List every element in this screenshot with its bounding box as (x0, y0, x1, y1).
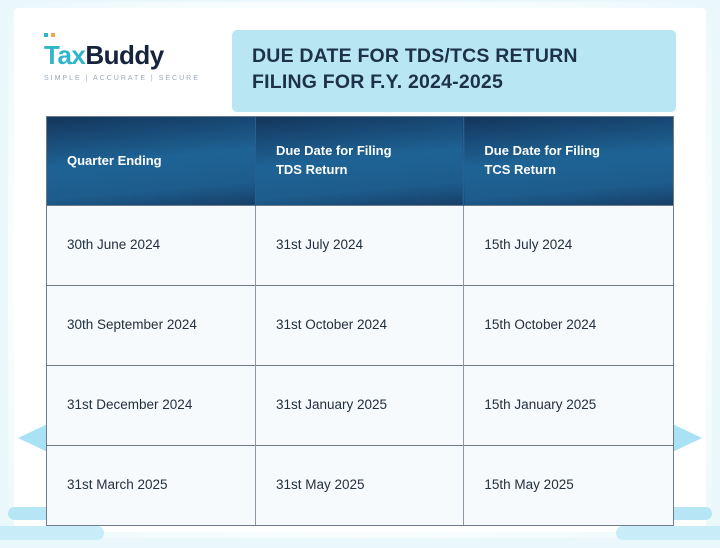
flag-base-bottom (0, 526, 104, 540)
column-header-line1: Quarter Ending (67, 152, 235, 170)
umlaut-dots-icon (44, 33, 55, 37)
cell-tds-due-date: 31st October 2024 (255, 285, 463, 365)
cell-tcs-due-date: 15th October 2024 (464, 285, 673, 365)
cell-quarter-ending: 30th September 2024 (47, 285, 255, 365)
brand-name-tax: Tax (44, 40, 85, 70)
cell-tds-due-date: 31st July 2024 (255, 205, 463, 285)
column-header-line1: Due Date for Filing (276, 142, 443, 160)
cell-tcs-due-date: 15th May 2025 (464, 445, 673, 525)
brand-tagline: SIMPLE | ACCURATE | SECURE (44, 75, 212, 82)
table-row: 30th June 2024 31st July 2024 15th July … (47, 205, 673, 285)
brand-name-buddy: Buddy (85, 40, 163, 70)
table-row: 31st December 2024 31st January 2025 15t… (47, 365, 673, 445)
column-header-line2: TDS Return (276, 161, 443, 179)
cell-quarter-ending: 31st March 2025 (47, 445, 255, 525)
table-row: 31st March 2025 31st May 2025 15th May 2… (47, 445, 673, 525)
title-banner: DUE DATE FOR TDS/TCS RETURN FILING FOR F… (232, 30, 676, 112)
cell-tcs-due-date: 15th January 2025 (464, 365, 673, 445)
column-header-line1: Due Date for Filing (484, 142, 653, 160)
cell-tds-due-date: 31st May 2025 (255, 445, 463, 525)
poster-canvas: TaxBuddy SIMPLE | ACCURATE | SECURE DUE … (0, 0, 720, 548)
table-header-row: Quarter Ending Due Date for Filing TDS R… (47, 117, 673, 205)
column-header-tds-due-date: Due Date for Filing TDS Return (255, 117, 463, 205)
brand-name-buddy-text: Buddy (85, 40, 163, 70)
table-header: Quarter Ending Due Date for Filing TDS R… (47, 117, 673, 205)
flag-base-bottom (616, 526, 720, 540)
brand-logo[interactable]: TaxBuddy SIMPLE | ACCURATE | SECURE (44, 30, 212, 82)
cell-quarter-ending: 30th June 2024 (47, 205, 255, 285)
cell-tcs-due-date: 15th July 2024 (464, 205, 673, 285)
cell-quarter-ending: 31st December 2024 (47, 365, 255, 445)
page-title-line2: FILING FOR F.Y. 2024-2025 (252, 70, 658, 96)
cell-tds-due-date: 31st January 2025 (255, 365, 463, 445)
due-date-table: Quarter Ending Due Date for Filing TDS R… (47, 117, 673, 525)
header-row: TaxBuddy SIMPLE | ACCURATE | SECURE DUE … (44, 30, 676, 106)
due-date-table-container: Quarter Ending Due Date for Filing TDS R… (46, 116, 674, 526)
column-header-tcs-due-date: Due Date for Filing TCS Return (464, 117, 673, 205)
brand-wordmark: TaxBuddy (44, 42, 212, 68)
page-title-line1: DUE DATE FOR TDS/TCS RETURN (252, 44, 658, 70)
column-header-line2: TCS Return (484, 161, 653, 179)
table-row: 30th September 2024 31st October 2024 15… (47, 285, 673, 365)
column-header-quarter-ending: Quarter Ending (47, 117, 255, 205)
table-body: 30th June 2024 31st July 2024 15th July … (47, 205, 673, 525)
